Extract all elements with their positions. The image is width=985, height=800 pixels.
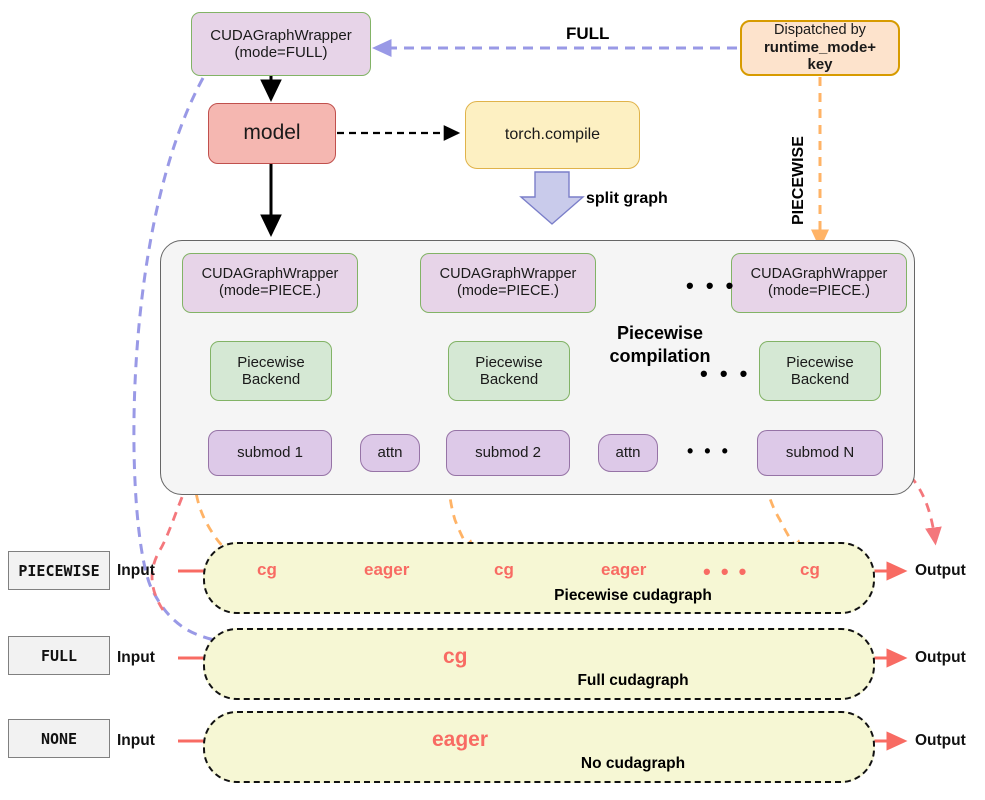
- lane2-name: Full cudagraph: [528, 672, 738, 690]
- wrapper-full-line2: (mode=FULL): [235, 44, 328, 61]
- backend-1-line2: Backend: [242, 371, 300, 388]
- lane2-step-0: cg: [443, 645, 468, 669]
- panel-ellipsis-top: • • •: [686, 275, 736, 297]
- wrapper-piece-1-line1: CUDAGraphWrapper: [202, 266, 339, 283]
- full-edge-label: FULL: [566, 24, 609, 44]
- split-graph-label: split graph: [586, 190, 668, 208]
- attn-1[interactable]: attn: [360, 434, 420, 472]
- submod-1[interactable]: submod 1: [208, 430, 332, 476]
- attn-2[interactable]: attn: [598, 434, 658, 472]
- backend-n-line1: Piecewise: [786, 354, 854, 371]
- lane2-output-label: Output: [915, 649, 966, 667]
- panel-ellipsis-mid: • • •: [700, 363, 750, 385]
- mode-label-none-text: NONE: [41, 730, 77, 748]
- split-graph-arrow: [521, 172, 583, 224]
- cudagraph-wrapper-full[interactable]: CUDAGraphWrapper (mode=FULL): [191, 12, 371, 76]
- mode-label-full-text: FULL: [41, 647, 77, 665]
- lane1-step-5: cg: [800, 560, 820, 580]
- mode-label-full[interactable]: FULL: [8, 636, 110, 675]
- lane2-input-label: Input: [117, 649, 155, 667]
- mode-label-piecewise[interactable]: PIECEWISE: [8, 551, 110, 590]
- wrapper-piece-1-line2: (mode=PIECE.): [219, 283, 321, 300]
- wrapper-full-line1: CUDAGraphWrapper: [210, 27, 351, 44]
- piecewise-backend-1[interactable]: Piecewise Backend: [210, 341, 332, 401]
- lane3-name: No cudagraph: [528, 755, 738, 773]
- panel-ellipsis-bottom: • • •: [687, 442, 731, 460]
- model-node[interactable]: model: [208, 103, 336, 164]
- piecewise-edge-label: PIECEWISE: [790, 136, 808, 225]
- attn-2-label: attn: [615, 444, 640, 461]
- wrapper-piece-2-line2: (mode=PIECE.): [457, 283, 559, 300]
- mode-label-piecewise-text: PIECEWISE: [18, 562, 99, 580]
- cudagraph-wrapper-piece-2[interactable]: CUDAGraphWrapper (mode=PIECE.): [420, 253, 596, 313]
- dispatch-node[interactable]: Dispatched by runtime_mode+ key: [740, 20, 900, 76]
- cudagraph-wrapper-piece-1[interactable]: CUDAGraphWrapper (mode=PIECE.): [182, 253, 358, 313]
- submod-2-label: submod 2: [475, 444, 541, 461]
- attn-1-label: attn: [377, 444, 402, 461]
- submod-n[interactable]: submod N: [757, 430, 883, 476]
- piecewise-title-line1: Piecewise: [575, 322, 745, 345]
- lane1-step-0: cg: [257, 560, 277, 580]
- dispatch-line2: runtime_mode+ key: [750, 39, 890, 74]
- piecewise-backend-2[interactable]: Piecewise Backend: [448, 341, 570, 401]
- mode-label-none[interactable]: NONE: [8, 719, 110, 758]
- wrapper-piece-2-line1: CUDAGraphWrapper: [440, 266, 577, 283]
- wrapper-piece-n-line1: CUDAGraphWrapper: [751, 266, 888, 283]
- torch-compile-node[interactable]: torch.compile: [465, 101, 640, 169]
- diagram-canvas: CUDAGraphWrapper (mode=FULL) model torch…: [0, 0, 985, 800]
- submod-1-label: submod 1: [237, 444, 303, 461]
- cudagraph-wrapper-piece-n[interactable]: CUDAGraphWrapper (mode=PIECE.): [731, 253, 907, 313]
- backend-2-line2: Backend: [480, 371, 538, 388]
- lane3-input-label: Input: [117, 732, 155, 750]
- lane1-output-label: Output: [915, 562, 966, 580]
- lane1-step-2: cg: [494, 560, 514, 580]
- lane3-step-0: eager: [432, 728, 488, 752]
- lane1-name: Piecewise cudagraph: [528, 587, 738, 605]
- backend-n-line2: Backend: [791, 371, 849, 388]
- lane1-step-4: • • •: [703, 561, 748, 583]
- wrapper-piece-n-line2: (mode=PIECE.): [768, 283, 870, 300]
- submod-n-label: submod N: [786, 444, 854, 461]
- piecewise-backend-n[interactable]: Piecewise Backend: [759, 341, 881, 401]
- submod-2[interactable]: submod 2: [446, 430, 570, 476]
- lane1-input-label: Input: [117, 562, 155, 580]
- backend-1-line1: Piecewise: [237, 354, 305, 371]
- lane3-output-label: Output: [915, 732, 966, 750]
- torch-compile-label: torch.compile: [505, 126, 600, 144]
- lane1-step-3: eager: [601, 560, 646, 580]
- lane1-step-1: eager: [364, 560, 409, 580]
- backend-2-line1: Piecewise: [475, 354, 543, 371]
- model-label: model: [243, 121, 300, 145]
- dispatch-line1: Dispatched by: [774, 22, 866, 39]
